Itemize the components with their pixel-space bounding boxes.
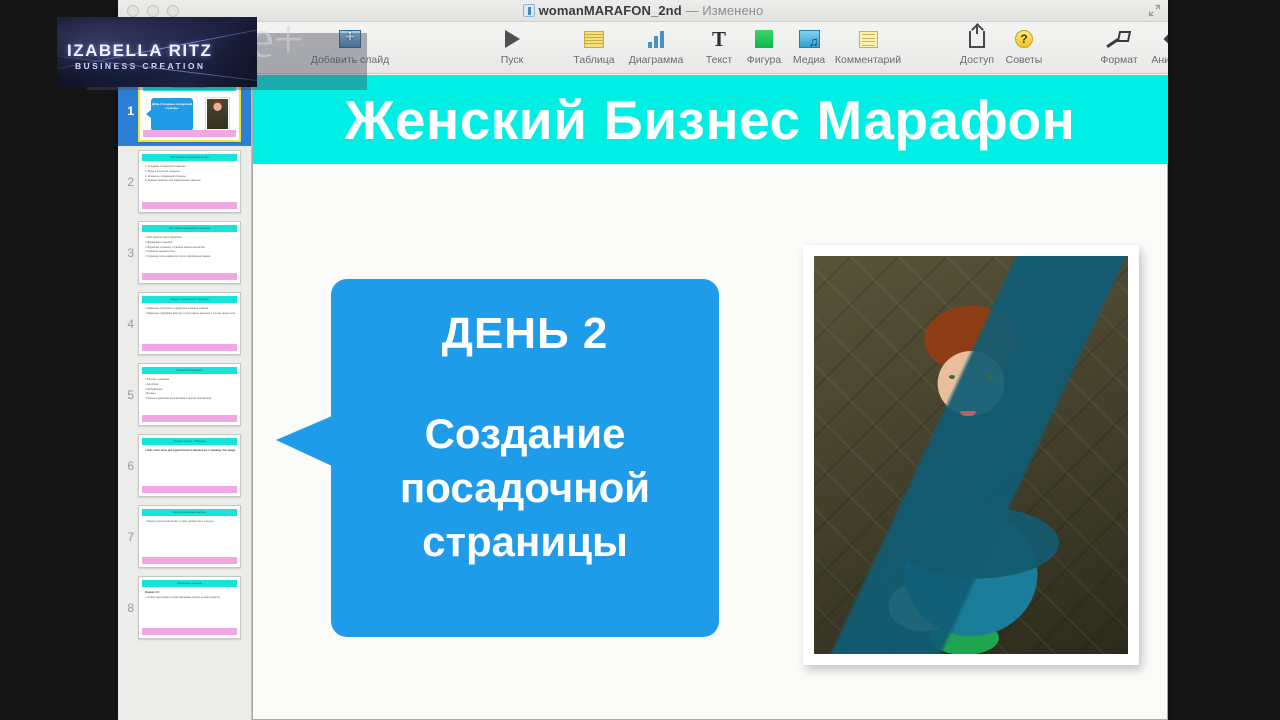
slide-navigator[interactable]: 1 Женский Бизнес Марафон ДЕНЬ 2 Создание… [118,75,252,720]
photo-detail [960,411,976,416]
slide-number: 6 [118,459,134,473]
format-brush-icon [1108,26,1130,52]
modified-label: — Изменено [685,3,763,18]
bubble-day-text: ДЕНЬ 2 [331,309,719,359]
thumb-body: Формат 2.0: • Читаем инструкцию и подгот… [145,591,235,625]
thumb-body: • Сайт-визитка одностраничник • Продающа… [145,236,235,270]
keynote-document-icon [523,4,535,17]
toolbar-label-chart: Диаграмма [629,54,684,66]
thumb-line: • Сайт-визитка одностраничник [145,236,235,240]
thumb-banner-text: Задачи посадочной страницы [142,296,237,303]
slide-thumbnail-6[interactable]: 6 Пишем тексты + Выгоды • Сайт «visit ca… [118,430,251,501]
thumbnail-canvas: Пишем тексты + Выгоды • Сайт «visit card… [138,434,241,497]
slide-canvas-area[interactable]: Женский Бизнес Марафон ДЕНЬ 2 Создание п… [252,75,1168,720]
thumb-banner-text: Элементы лендинга [142,367,237,374]
thumb-line: • Заголовок [145,383,235,387]
brand-name-text: IZABELLA RITZ [67,41,251,61]
bubble-subtitle-line-1: Создание [331,407,719,461]
toolbar-button-chart[interactable]: Диаграмма [620,26,692,66]
share-icon [969,26,985,52]
thumb-line: Формат 2.0: [145,591,235,595]
thumbnail-canvas: Программа сегодняшнего дня 1. Создание п… [138,150,241,213]
thumb-body: • Почему клиентский контакт и заказ долж… [145,520,235,554]
thumb-body: 1. Создание посадочной страницы 2. Виды … [145,165,235,199]
toolbar-label-animate: Анимация [1151,54,1168,66]
toolbar-button-animate[interactable]: Анимация [1140,26,1168,66]
slide-number: 1 [118,104,134,118]
toolbar-label-format: Формат [1100,54,1137,66]
thumb-bubble-text: ДЕНЬ 2 Создание посадочной страницы [151,103,193,112]
thumb-line: 3. Элементы продающей страницы [145,175,235,179]
slide-number: 4 [118,317,134,331]
thumb-footer [142,415,237,422]
brand-tagline-text: BUSINESS CREATION [75,61,205,71]
slide-thumbnail-3[interactable]: 3 Что такое посадочная страница • Сайт-в… [118,217,251,288]
thumb-banner-text: Дополнительные выгоды [142,509,237,516]
thumb-body: • Логотип + название • Заголовок • Изобр… [145,378,235,412]
thumb-banner: Программа сегодняшнего дня [142,154,237,161]
slide-thumbnail-2[interactable]: 2 Программа сегодняшнего дня 1. Создание… [118,146,251,217]
thumbnail-canvas: Дополнительные выгоды • Почему клиентски… [138,505,241,568]
toolbar-button-tips[interactable]: ? Советы [988,26,1060,66]
fullscreen-icon[interactable] [1148,4,1161,17]
current-slide[interactable]: Женский Бизнес Марафон ДЕНЬ 2 Создание п… [252,75,1168,720]
thumbnail-canvas: Домашнее задание Формат 2.0: • Читаем ин… [138,576,241,639]
thumb-body: • Сайт «visit card» для туристического б… [145,449,235,483]
toolbar-label-media: Медиа [793,54,825,66]
photo-detail [987,375,993,379]
table-icon [584,26,604,52]
toolbar-label-play: Пуск [501,54,524,66]
toolbar-button-comment[interactable]: Комментарий [832,26,904,66]
text-icon: T [712,26,726,52]
play-icon [505,26,520,52]
thumb-footer [142,273,237,280]
thumbnail-canvas: Элементы лендинга • Логотип + название •… [138,363,241,426]
window-title: womanMARAFON_2nd — Изменено [118,3,1168,18]
slide-number: 5 [118,388,134,402]
thumb-line: • Подписная страница, страница захвата к… [145,246,235,250]
document-name: womanMARAFON_2nd [539,3,682,18]
thumb-banner-text: Что такое посадочная страница [142,225,237,232]
comment-icon [859,26,878,52]
toolbar-button-play[interactable]: Пуск [476,26,548,66]
tips-icon: ? [1015,26,1033,52]
slide-thumbnail-4[interactable]: 4 Задачи посадочной страницы • Правильно… [118,288,251,359]
slide-number: 2 [118,175,134,189]
thumb-line: • Призыв к действию (кнопка заказа, форм… [145,397,235,401]
thumb-photo [205,97,230,131]
media-icon [799,26,820,52]
thumb-body: • Правильно построить и представить ваше… [145,307,235,341]
slide-title-text: Женский Бизнес Марафон [345,88,1076,152]
chart-icon [648,26,664,52]
thumb-footer [142,628,237,635]
thumb-footer [142,202,237,209]
slide-title-banner[interactable]: Женский Бизнес Марафон [253,76,1167,164]
thumb-banner: Что такое посадочная страница [142,225,237,232]
portrait-photo [814,256,1128,654]
thumb-line: • Изображения [145,388,235,392]
thumb-line: • Выгоды [145,392,235,396]
thumb-banner: Задачи посадочной страницы [142,296,237,303]
thumb-footer [142,344,237,351]
slide-thumbnail-5[interactable]: 5 Элементы лендинга • Логотип + название… [118,359,251,430]
bubble-subtitle-line-2: посадочной [331,461,719,515]
thumb-line: 2. Виды и структура лендинга [145,170,235,174]
thumb-line: • Продающая страница [145,241,235,245]
toolbar-label-tips: Советы [1006,54,1043,66]
thumb-banner: Домашнее задание [142,580,237,587]
slide-number: 7 [118,530,134,544]
window-titlebar: womanMARAFON_2nd — Изменено [118,0,1168,22]
thumb-line: 4. Важные моменты при оформлении страниц… [145,179,235,183]
main-toolbar: 100% Добавить слайд Пуск Таблица [118,22,1168,74]
thumb-banner: Элементы лендинга [142,367,237,374]
workspace: 1 Женский Бизнес Марафон ДЕНЬ 2 Создание… [118,75,1168,720]
bubble-subtitle: Создание посадочной страницы [331,407,719,569]
thumb-banner: Дополнительные выгоды [142,509,237,516]
thumb-line: • Читаем инструкцию и подготавливаем ссы… [145,596,235,600]
thumbnail-canvas: Женский Бизнес Марафон ДЕНЬ 2 Создание п… [138,79,241,142]
photo-detail [949,375,955,379]
thumbnail-canvas: Задачи посадочной страницы • Правильно п… [138,292,241,355]
shape-icon [755,26,773,52]
slide-number: 8 [118,601,134,615]
toolbar-label-add-slide: Добавить слайд [311,54,390,66]
thumb-line: • Сайт «visit card» для туристического б… [145,449,235,453]
toolbar-label-comment: Комментарий [835,54,901,66]
thumb-line: • Страница после заказа или после оформл… [145,255,235,259]
add-slide-icon [339,26,361,52]
toolbar-button-add-slide[interactable]: Добавить слайд [314,26,386,66]
animate-icon [1165,26,1168,52]
thumb-line: • Правильно построить и представить ваше… [145,307,235,311]
thumb-line: • Почему клиентский контакт и заказ долж… [145,520,235,524]
bubble-subtitle-line-3: страницы [331,515,719,569]
thumb-footer [142,557,237,564]
thumb-bubble: ДЕНЬ 2 Создание посадочной страницы [151,98,193,131]
thumb-banner-text: Пишем тексты + Выгоды [142,438,237,445]
thumbnail-canvas: Что такое посадочная страница • Сайт-виз… [138,221,241,284]
thumb-footer [142,486,237,493]
photo-frame[interactable] [803,245,1139,665]
thumb-footer [143,130,236,137]
brand-watermark: IZABELLA RITZ BUSINESS CREATION [57,17,257,87]
thumb-banner-text: Программа сегодняшнего дня [142,154,237,161]
thumb-banner: Пишем тексты + Выгоды [142,438,237,445]
thumb-banner-text: Домашнее задание [142,580,237,587]
slide-number: 3 [118,246,134,260]
keynote-window: womanMARAFON_2nd — Изменено 100% Добавит… [118,0,1168,720]
toolbar-label-table: Таблица [573,54,614,66]
thumb-line: • Страница заказа/оплаты [145,250,235,254]
speech-bubble[interactable]: ДЕНЬ 2 Создание посадочной страницы [331,279,719,637]
slide-thumbnail-8[interactable]: 8 Домашнее задание Формат 2.0: • Читаем … [118,572,251,643]
video-frame: womanMARAFON_2nd — Изменено 100% Добавит… [0,0,1280,720]
thumb-line: • Правильно подобрать фактуру и предложи… [145,312,235,316]
thumb-line: 1. Создание посадочной страницы [145,165,235,169]
thumb-line: • Логотип + название [145,378,235,382]
slide-thumbnail-7[interactable]: 7 Дополнительные выгоды • Почему клиентс… [118,501,251,572]
